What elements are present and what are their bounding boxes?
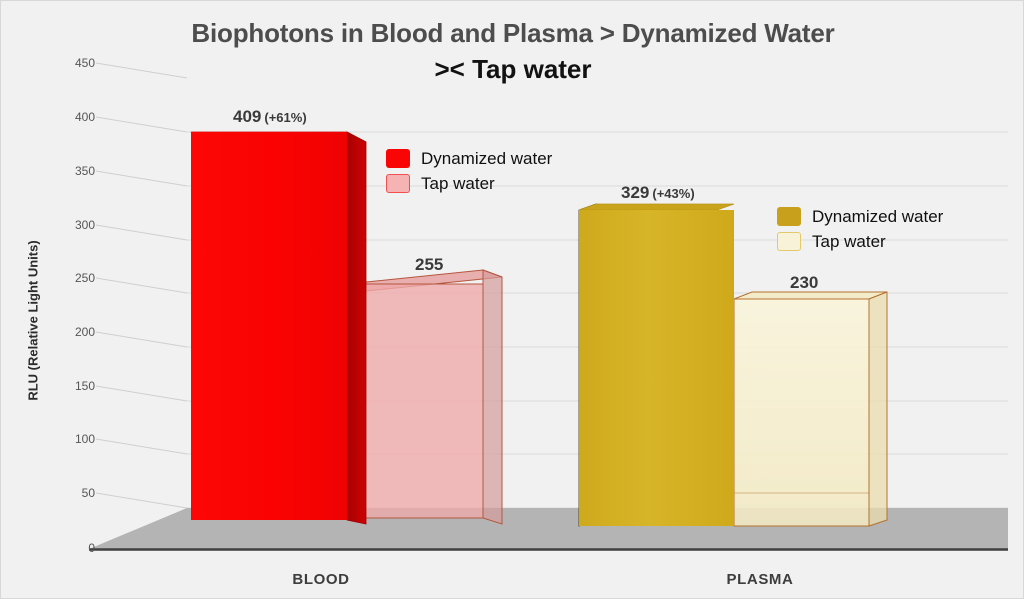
legend-item-plasma-dynamized[interactable]: Dynamized water [777, 207, 943, 226]
y-tick-200: 200 [49, 326, 95, 338]
chart-container: Biophotons in Blood and Plasma > Dynamiz… [0, 0, 1024, 599]
y-tick-150: 150 [49, 380, 95, 392]
value-blood-tap: 255 [415, 255, 443, 274]
bar-plasma-dynamized-water[interactable] [579, 204, 734, 526]
value-plasma-tap: 230 [790, 273, 818, 292]
perspective-tick-lines [96, 63, 187, 508]
y-tick-450: 450 [49, 57, 95, 69]
y-tick-400: 400 [49, 111, 95, 123]
value-label-blood-dynamized: 409(+61%) [233, 108, 307, 125]
plot-area [1, 1, 1024, 599]
y-tick-0: 0 [49, 542, 95, 554]
legend-item-plasma-tap[interactable]: Tap water [777, 232, 943, 251]
legend-swatch-dynamized-red-icon [386, 149, 410, 168]
y-tick-250: 250 [49, 272, 95, 284]
legend-swatch-dynamized-gold-icon [777, 207, 801, 226]
legend-swatch-tap-pink-icon [386, 174, 410, 193]
y-tick-100: 100 [49, 433, 95, 445]
legend-label-plasma-dynamized: Dynamized water [812, 208, 943, 225]
value-blood-dynamized: 409 [233, 107, 261, 126]
legend-label-plasma-tap: Tap water [812, 233, 886, 250]
category-label-blood: BLOOD [241, 571, 401, 588]
pct-plasma-dynamized: (+43%) [652, 186, 694, 201]
value-label-plasma-dynamized: 329(+43%) [621, 184, 695, 201]
value-plasma-dynamized: 329 [621, 183, 649, 202]
category-label-plasma: PLASMA [680, 571, 840, 588]
bar-blood-tap-water[interactable] [347, 270, 502, 524]
y-axis-title: RLU (Relative Light Units) [26, 216, 41, 426]
legend-item-blood-dynamized[interactable]: Dynamized water [386, 149, 552, 168]
value-label-plasma-tap: 230 [790, 274, 818, 291]
value-label-blood-tap: 255 [415, 256, 443, 273]
y-tick-50: 50 [49, 487, 95, 499]
legend-plasma: Dynamized water Tap water [777, 207, 943, 257]
bar-plasma-tap-water[interactable] [734, 292, 887, 526]
legend-label-blood-dynamized: Dynamized water [421, 150, 552, 167]
legend-item-blood-tap[interactable]: Tap water [386, 174, 552, 193]
legend-blood: Dynamized water Tap water [386, 149, 552, 199]
y-tick-350: 350 [49, 165, 95, 177]
y-tick-300: 300 [49, 219, 95, 231]
legend-swatch-tap-cream-icon [777, 232, 801, 251]
legend-label-blood-tap: Tap water [421, 175, 495, 192]
bar-blood-dynamized-water[interactable] [191, 132, 366, 524]
pct-blood-dynamized: (+61%) [264, 110, 306, 125]
